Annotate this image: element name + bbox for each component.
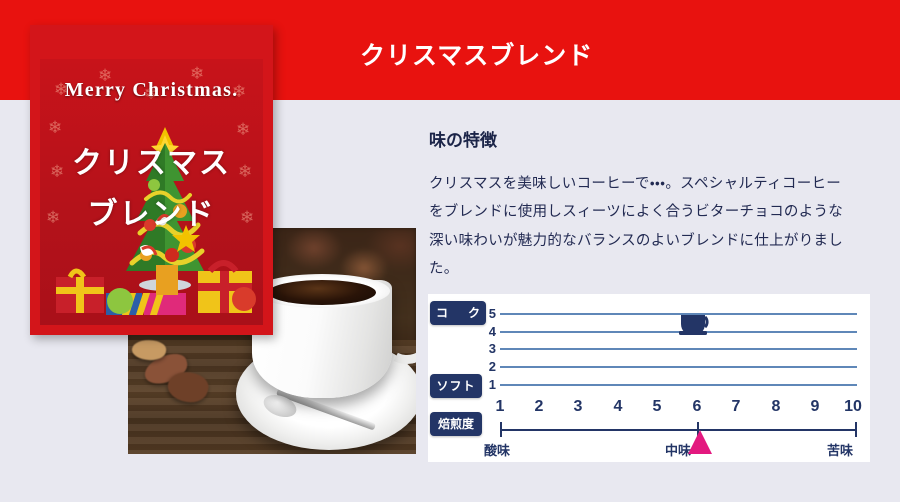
package-title-line1: クリスマス [30, 138, 273, 182]
roast-axis-line [500, 429, 857, 431]
product-page: クリスマスブレンド ❄ ❄ ❄ ❄ ❄ ❄ ❄ ❄ ❄ ❄ ❄ [0, 0, 900, 502]
page-title: クリスマスブレンド [360, 36, 593, 72]
x-tick-9: 9 [803, 398, 827, 416]
feature-heading: 味の特徴 [429, 126, 497, 151]
package-title-line2: ブレンド [30, 189, 273, 233]
roast-tick-start [500, 422, 502, 437]
y-tick-5: 5 [482, 306, 496, 321]
chart-label-body-strong: コ ク [430, 301, 486, 325]
x-tick-10: 10 [841, 398, 865, 416]
x-tick-5: 5 [645, 398, 669, 416]
y-tick-1: 1 [482, 377, 496, 392]
feature-description: クリスマスを美味しいコーヒーで・・・。スペシャルティコーヒーをブレンドに使用しス… [429, 170, 849, 283]
merry-christmas-text: Merry Christmas. [30, 79, 273, 102]
y-tick-4: 4 [482, 324, 496, 339]
scale-label-acid: 酸味 [484, 440, 510, 459]
product-package-image: ❄ ❄ ❄ ❄ ❄ ❄ ❄ ❄ ❄ ❄ ❄ [30, 25, 273, 335]
roast-tick-end [855, 422, 857, 437]
snowflake-icon: ❄ [48, 119, 62, 136]
scale-label-bitter: 苦味 [827, 440, 853, 459]
gridline-2 [500, 366, 857, 368]
x-tick-6: 6 [685, 398, 709, 416]
x-tick-3: 3 [566, 398, 590, 416]
roast-level-triangle-marker [688, 430, 712, 454]
x-tick-2: 2 [527, 398, 551, 416]
chart-label-roast: 焙煎度 [430, 412, 482, 436]
x-tick-1: 1 [488, 398, 512, 416]
snowflake-icon: ❄ [236, 121, 250, 138]
gift-boxes-icon [48, 247, 263, 319]
x-tick-8: 8 [764, 398, 788, 416]
y-tick-3: 3 [482, 341, 496, 356]
gridline-1 [500, 384, 857, 386]
x-tick-7: 7 [724, 398, 748, 416]
y-tick-2: 2 [482, 359, 496, 374]
coffee-liquid [268, 280, 376, 305]
x-tick-4: 4 [606, 398, 630, 416]
chart-label-body-soft: ソフト [430, 374, 482, 398]
coffee-cup-marker-icon [679, 313, 717, 335]
gridline-3 [500, 348, 857, 350]
